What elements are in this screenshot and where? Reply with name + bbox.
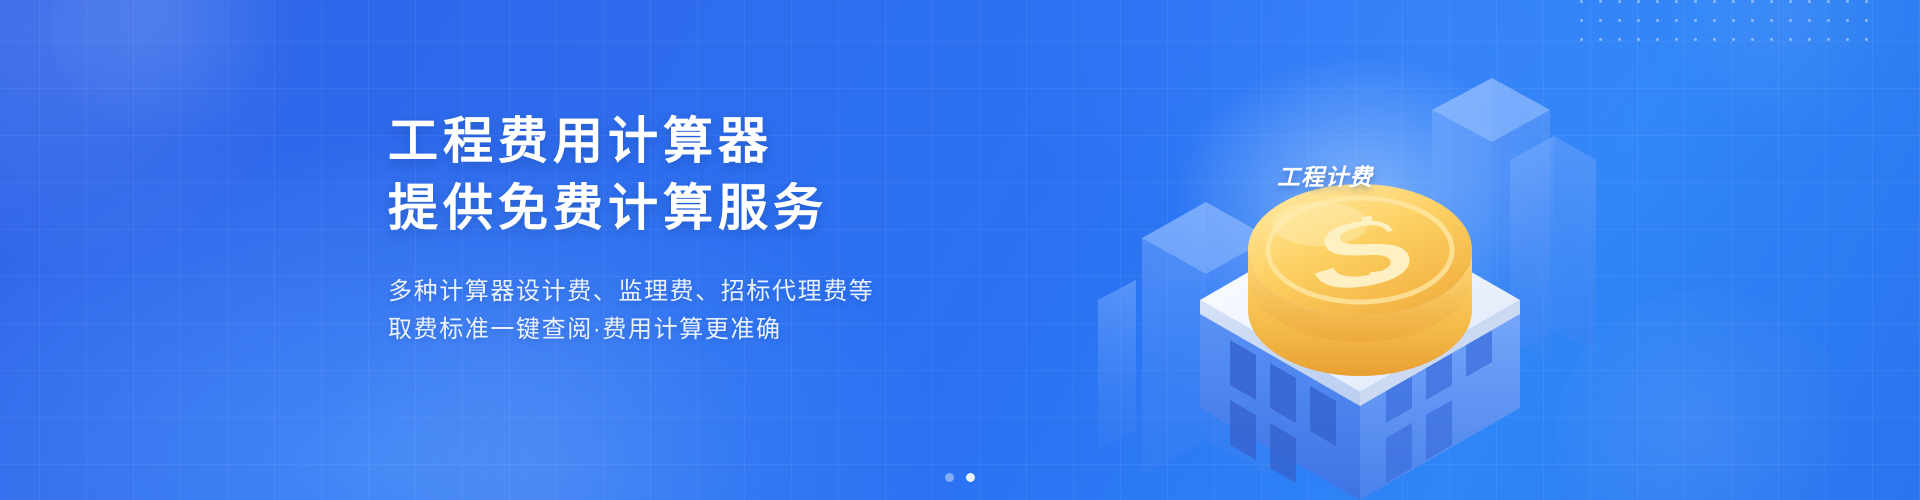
banner-subtitle-line2: 取费标准一键查阅·费用计算更准确 [388,311,1028,349]
banner-headline-line1: 工程费用计算器 [388,112,1028,170]
illustration-badge-label: 工程计费 [1277,158,1373,192]
banner-subtitle-line1: 多种计算器设计费、监理费、招标代理费等 [388,273,1028,311]
carousel-dot-1[interactable] [945,473,954,482]
decorative-circle-top-right [1660,0,1910,140]
hero-banner: 工程费用计算器 提供免费计算服务 多种计算器设计费、监理费、招标代理费等 取费标… [0,0,1920,500]
banner-illustration [1080,0,1640,500]
banner-subtitle: 多种计算器设计费、监理费、招标代理费等 取费标准一键查阅·费用计算更准确 [388,273,1028,349]
banner-headline-line2: 提供免费计算服务 [388,179,1028,237]
decorative-circle-top-left [0,0,300,270]
decorative-circle-small-top-left [50,0,280,140]
carousel-pagination[interactable] [945,473,975,482]
banner-copy: 工程费用计算器 提供免费计算服务 多种计算器设计费、监理费、招标代理费等 取费标… [388,112,1028,349]
carousel-dot-2[interactable] [966,473,975,482]
dollar-coin-icon [1248,184,1472,376]
